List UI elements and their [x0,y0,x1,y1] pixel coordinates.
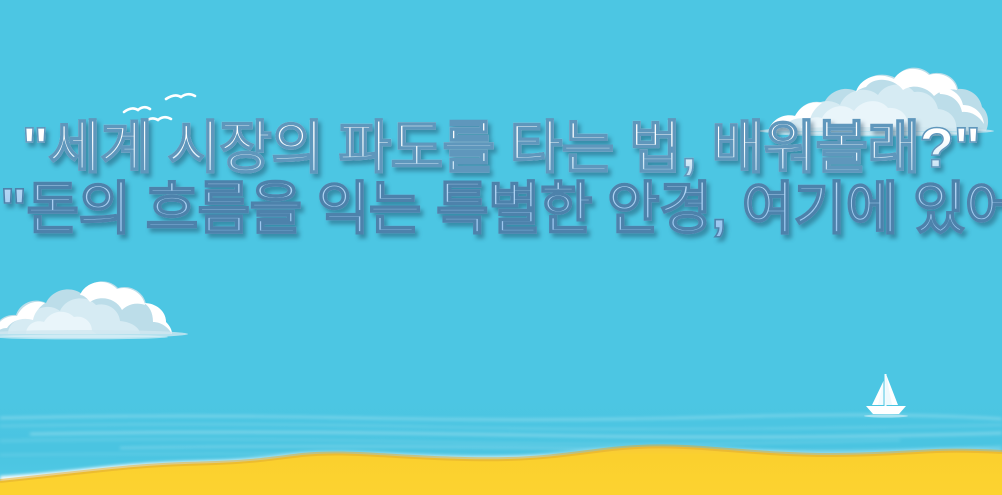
beach-promo-banner: "세계 시장의 파도를 타는 법, 배워볼래?" "돈의 흐름을 익는 특별한 … [0,0,1002,495]
headline-line-2: "돈의 흐름을 익는 특별한 안경, 여기에 있어!" [0,181,1002,238]
headline-line-1: "세계 시장의 파도를 타는 법, 배워볼래?" [0,120,1002,181]
sky-background [0,0,1002,495]
headline-block: "세계 시장의 파도를 타는 법, 배워볼래?" "돈의 흐름을 익는 특별한 … [0,120,1002,238]
